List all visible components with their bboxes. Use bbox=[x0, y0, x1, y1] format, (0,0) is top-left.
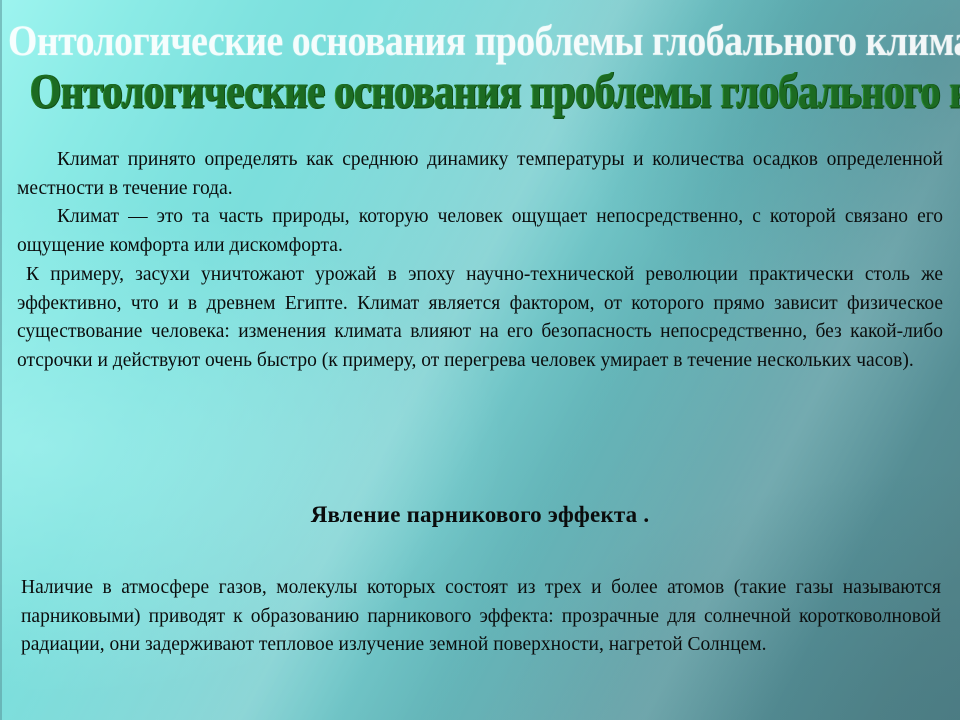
body-text-bottom: Наличие в атмосфере газов, молекулы кото… bbox=[21, 574, 941, 660]
slide-title-wordart: Онтологические основания проблемы глобал… bbox=[0, 0, 960, 128]
paragraph-climate-nature: Климат — это та часть природы, которую ч… bbox=[17, 203, 943, 260]
paragraph-greenhouse-gases: Наличие в атмосфере газов, молекулы кото… bbox=[21, 574, 941, 660]
body-text-top: Климат принято определять как среднюю ди… bbox=[17, 146, 943, 376]
paragraph-climate-example: К примеру, засухи уничтожают урожай в эп… bbox=[17, 261, 943, 376]
presentation-slide: Онтологические основания проблемы глобал… bbox=[0, 0, 960, 720]
section-subheading: Явление парникового эффекта . bbox=[0, 502, 960, 528]
slide-title-ghost-layer: Онтологические основания проблемы глобал… bbox=[8, 16, 960, 67]
paragraph-climate-definition: Климат принято определять как среднюю ди… bbox=[17, 146, 943, 203]
slide-title-main-layer: Онтологические основания проблемы глобал… bbox=[30, 62, 960, 119]
